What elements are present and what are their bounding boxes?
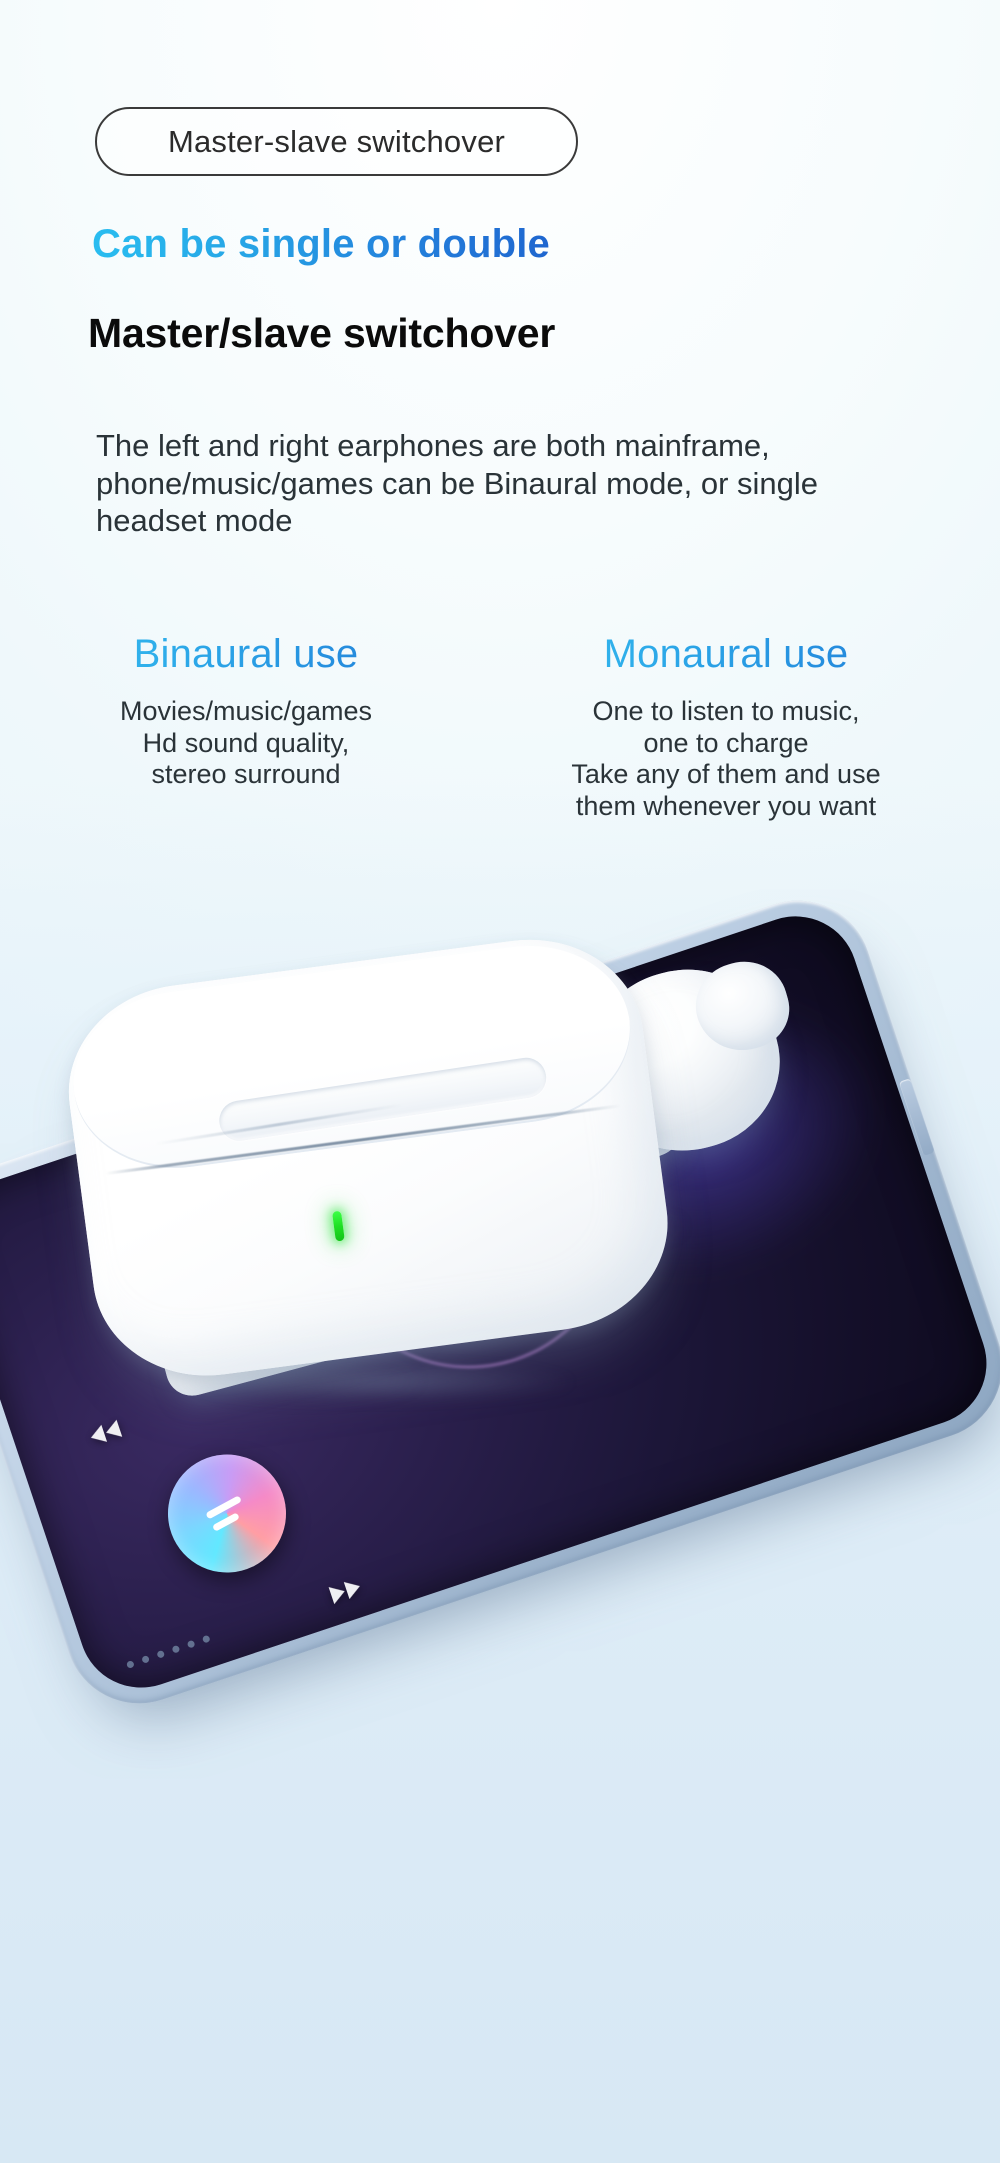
kicker-heading: Can be single or double bbox=[92, 222, 550, 267]
feature-body-binaural: Movies/music/games Hd sound quality, ste… bbox=[30, 696, 462, 791]
section-badge-label: Master-slave switchover bbox=[168, 124, 505, 160]
page-title: Master/slave switchover bbox=[88, 310, 555, 357]
feature-column-binaural: Binaural use Movies/music/games Hd sound… bbox=[16, 632, 476, 822]
charging-case bbox=[53, 901, 711, 1455]
charging-case-body bbox=[56, 926, 680, 1390]
charging-status-led-icon bbox=[332, 1211, 345, 1242]
charging-case-lid bbox=[63, 933, 641, 1181]
feature-title-binaural: Binaural use bbox=[30, 632, 462, 677]
playlist-icon bbox=[205, 1495, 248, 1532]
feature-title-monaural: Monaural use bbox=[490, 632, 962, 677]
feature-column-monaural: Monaural use One to listen to music, one… bbox=[476, 632, 976, 822]
description-paragraph: The left and right earphones are both ma… bbox=[96, 427, 886, 540]
section-badge: Master-slave switchover bbox=[95, 107, 578, 176]
product-photo: saw her staring back at I saw your eyes … bbox=[0, 880, 1000, 2163]
feature-body-monaural: One to listen to music, one to charge Ta… bbox=[490, 696, 962, 822]
feature-columns: Binaural use Movies/music/games Hd sound… bbox=[0, 632, 1000, 822]
product-marketing-page: Master-slave switchover Can be single or… bbox=[0, 0, 1000, 2163]
